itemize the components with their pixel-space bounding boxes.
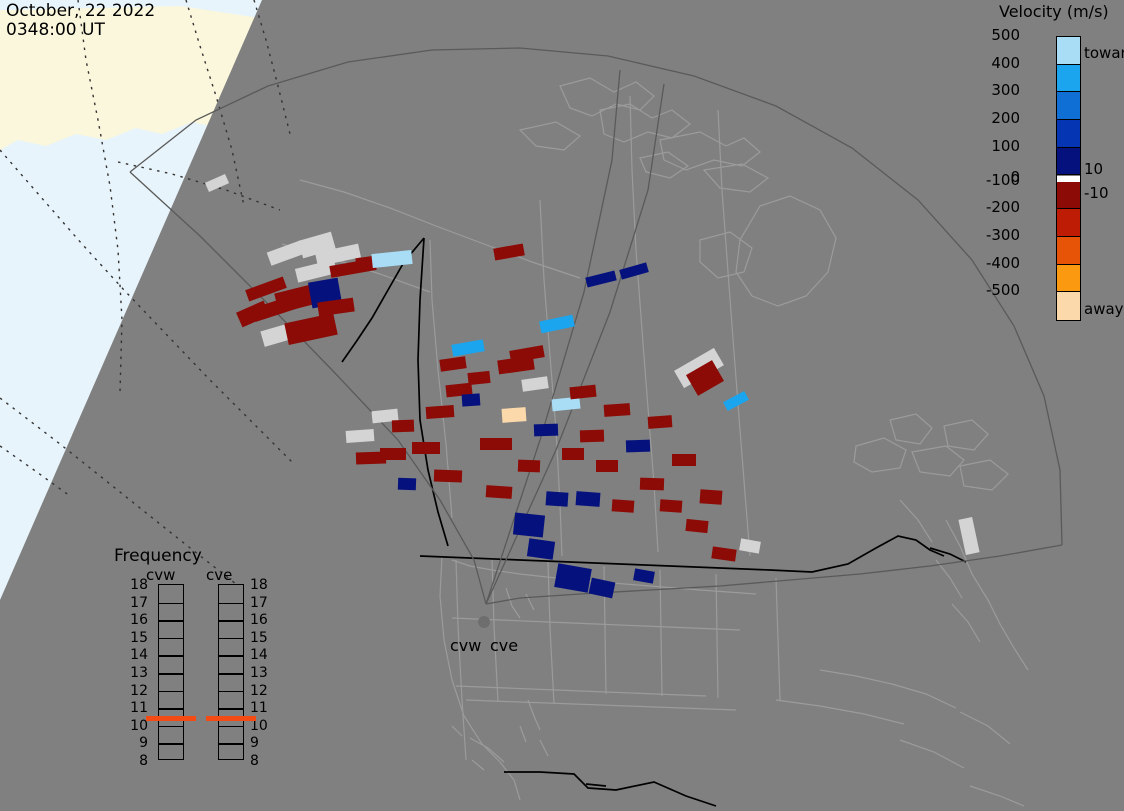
velocity-color-band	[1057, 65, 1080, 93]
velocity-color-band	[1057, 148, 1080, 176]
frequency-tick-cve-15: 15	[250, 630, 270, 646]
frequency-tick-cve-14: 14	[250, 647, 270, 663]
frequency-tick-cve-13: 13	[250, 665, 270, 681]
velocity-away-label: away	[1084, 300, 1124, 318]
radar-cell	[346, 429, 375, 443]
radar-cell	[554, 563, 592, 593]
velocity-color-band	[1057, 37, 1080, 65]
velocity-color-band	[1057, 209, 1080, 237]
frequency-tick-line	[159, 620, 183, 622]
frequency-tick-line	[219, 638, 243, 640]
frequency-tick-line	[219, 673, 243, 675]
radar-cell	[434, 470, 462, 483]
frequency-tick-line	[159, 691, 183, 693]
velocity-tick-400: 400	[960, 54, 1020, 72]
radar-cell	[672, 454, 696, 466]
radar-cell	[284, 313, 337, 345]
radar-cell	[685, 519, 708, 533]
frequency-tick-cvw-12: 12	[128, 683, 148, 699]
station-label-cvw: cvw	[450, 636, 481, 655]
radar-cell	[711, 546, 736, 561]
frequency-tick-line	[219, 743, 243, 745]
radar-cell	[612, 499, 635, 513]
velocity-tick-300: 300	[960, 81, 1020, 99]
radar-cell	[439, 356, 466, 372]
velocity-inner-negative-label: -10	[1084, 184, 1109, 202]
frequency-tick-cve-18: 18	[250, 577, 270, 593]
frequency-marker-cve	[206, 716, 256, 721]
frequency-legend-title: Frequency	[114, 546, 202, 566]
radar-cell	[700, 489, 723, 505]
radar-cell	[380, 448, 406, 460]
radar-cell	[660, 499, 683, 513]
velocity-tick-neg100: -100	[960, 171, 1020, 189]
radar-cell	[633, 568, 655, 583]
radar-cell	[539, 315, 575, 334]
radar-cell	[562, 448, 584, 460]
frequency-tick-cve-16: 16	[250, 612, 270, 628]
radar-cell	[551, 397, 580, 412]
radar-cell	[518, 460, 540, 473]
radar-cell	[371, 250, 412, 268]
radar-cell	[619, 262, 649, 279]
radar-cell	[546, 491, 569, 507]
frequency-tick-line	[159, 655, 183, 657]
radar-cell	[576, 491, 601, 507]
radar-cell	[467, 371, 490, 385]
radar-cell	[589, 578, 616, 599]
velocity-color-band	[1057, 265, 1080, 293]
frequency-tick-line	[219, 620, 243, 622]
radar-cell	[626, 440, 650, 453]
velocity-tick-200: 200	[960, 109, 1020, 127]
radar-cell	[392, 420, 414, 433]
frequency-tick-cvw-17: 17	[128, 595, 148, 611]
radar-cell	[398, 478, 416, 491]
frequency-tick-line	[219, 708, 243, 710]
frequency-bar-cvw	[158, 584, 184, 760]
radar-cell	[521, 376, 548, 392]
radar-site-marker	[478, 616, 490, 628]
radar-cell	[426, 405, 455, 419]
frequency-tick-cve-12: 12	[250, 683, 270, 699]
frequency-tick-line	[219, 691, 243, 693]
radar-cell	[569, 385, 596, 400]
frequency-tick-line	[159, 726, 183, 728]
frequency-tick-cve-17: 17	[250, 595, 270, 611]
velocity-tick-neg300: -300	[960, 226, 1020, 244]
radar-cell	[596, 460, 618, 472]
velocity-legend-title: Velocity (m/s)	[999, 2, 1124, 21]
radar-cell	[205, 174, 229, 192]
velocity-color-band	[1057, 237, 1080, 265]
radar-cell	[412, 442, 440, 454]
radar-cell	[739, 538, 761, 553]
station-label-cve: cve	[490, 636, 518, 655]
frequency-tick-cvw-9: 9	[128, 735, 148, 751]
frequency-bar-cve	[218, 584, 244, 760]
radar-cell	[451, 339, 485, 356]
radar-map-screenshot: cvwcve October, 22 2022 0348:00 UT Veloc…	[0, 0, 1124, 811]
velocity-toward-label: toward	[1084, 44, 1124, 62]
frequency-tick-cve-11: 11	[250, 700, 270, 716]
frequency-tick-cvw-8: 8	[128, 753, 148, 769]
radar-cell	[493, 243, 525, 260]
radar-cell	[958, 517, 979, 555]
radar-cell	[723, 391, 749, 411]
frequency-marker-cvw	[146, 716, 196, 721]
frequency-tick-cvw-15: 15	[128, 630, 148, 646]
radar-cell	[585, 271, 617, 288]
frequency-tick-line	[159, 743, 183, 745]
radar-cell	[486, 485, 513, 499]
frequency-tick-cvw-14: 14	[128, 647, 148, 663]
frequency-tick-line	[159, 673, 183, 675]
radar-cell	[513, 512, 545, 537]
frequency-tick-cve-8: 8	[250, 753, 270, 769]
velocity-color-band	[1057, 120, 1080, 148]
velocity-tick-neg500: -500	[960, 281, 1020, 299]
radar-cell	[534, 424, 558, 437]
frequency-tick-cve-9: 9	[250, 735, 270, 751]
velocity-inner-positive-label: 10	[1084, 160, 1103, 178]
radar-cell	[462, 393, 481, 406]
frequency-tick-line	[159, 638, 183, 640]
frequency-tick-line	[219, 726, 243, 728]
velocity-color-band	[1057, 182, 1080, 210]
radar-cell	[480, 438, 512, 450]
radar-cell	[604, 403, 631, 417]
radar-cell	[502, 407, 527, 423]
frequency-column-cvw: cvw	[146, 566, 175, 584]
velocity-colorbar	[1056, 36, 1081, 321]
velocity-color-band	[1057, 292, 1080, 320]
velocity-tick-100: 100	[960, 137, 1020, 155]
frequency-tick-line	[219, 655, 243, 657]
timestamp-label: October, 22 2022 0348:00 UT	[6, 2, 155, 40]
radar-cell	[640, 478, 664, 491]
radar-cell	[527, 538, 555, 559]
frequency-tick-line	[159, 603, 183, 605]
frequency-tick-line	[159, 708, 183, 710]
frequency-tick-cvw-13: 13	[128, 665, 148, 681]
frequency-tick-cvw-11: 11	[128, 700, 148, 716]
velocity-color-band	[1057, 92, 1080, 120]
radar-cell	[580, 430, 604, 443]
frequency-column-cve: cve	[206, 566, 232, 584]
frequency-tick-cvw-16: 16	[128, 612, 148, 628]
frequency-legend-panel: Frequency cvw18171615141312111098cve1817…	[100, 546, 235, 781]
velocity-legend-panel: Velocity (m/s) 5004003002001000-100-200-…	[980, 0, 1124, 340]
velocity-tick-neg400: -400	[960, 254, 1020, 272]
velocity-tick-500: 500	[960, 26, 1020, 44]
frequency-tick-line	[219, 603, 243, 605]
velocity-tick-neg200: -200	[960, 198, 1020, 216]
radar-cell	[648, 415, 673, 429]
frequency-tick-cvw-10: 10	[128, 718, 148, 734]
frequency-tick-cvw-18: 18	[128, 577, 148, 593]
